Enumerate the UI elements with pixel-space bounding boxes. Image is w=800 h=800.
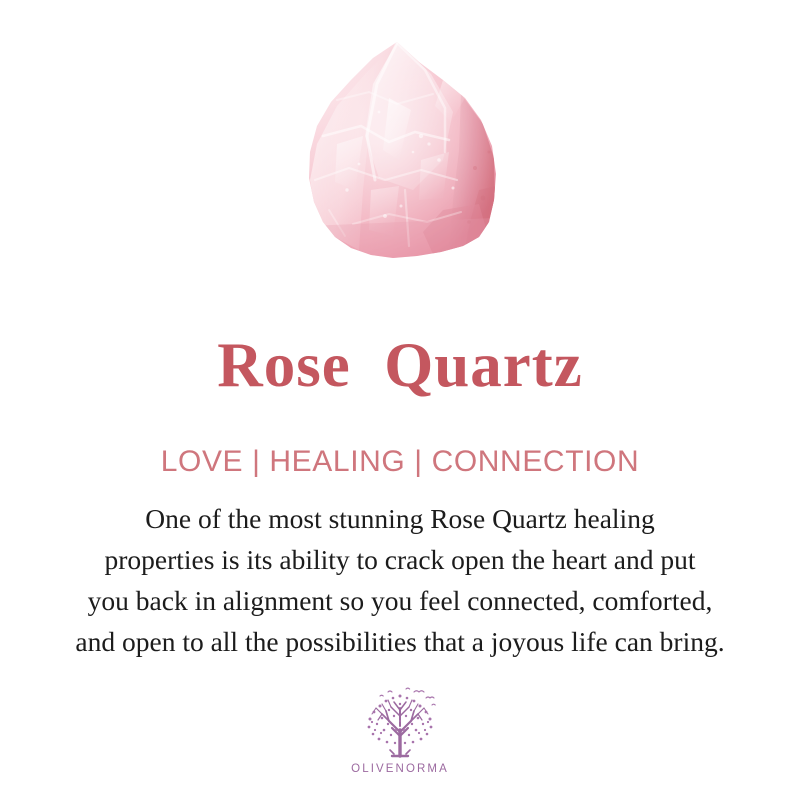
brand-logo: OLIVENORMA	[0, 686, 800, 775]
description-text: One of the most stunning Rose Quartz hea…	[30, 498, 770, 662]
tree-icon	[358, 686, 442, 760]
rose-quartz-crystal-icon	[293, 40, 508, 272]
description-line: properties is its ability to crack open …	[30, 539, 770, 580]
brand-wordmark: OLIVENORMA	[351, 763, 449, 775]
description-line: and open to all the possibilities that a…	[30, 621, 770, 662]
description-line: One of the most stunning Rose Quartz hea…	[30, 498, 770, 539]
description-line: you back in alignment so you feel connec…	[30, 580, 770, 621]
hero-image-container	[0, 40, 800, 290]
product-card: Rose Quartz LOVE | HEALING | CONNECTION …	[0, 0, 800, 800]
keyword-subtitle: LOVE | HEALING | CONNECTION	[0, 444, 800, 480]
page-title: Rose Quartz	[0, 329, 800, 401]
